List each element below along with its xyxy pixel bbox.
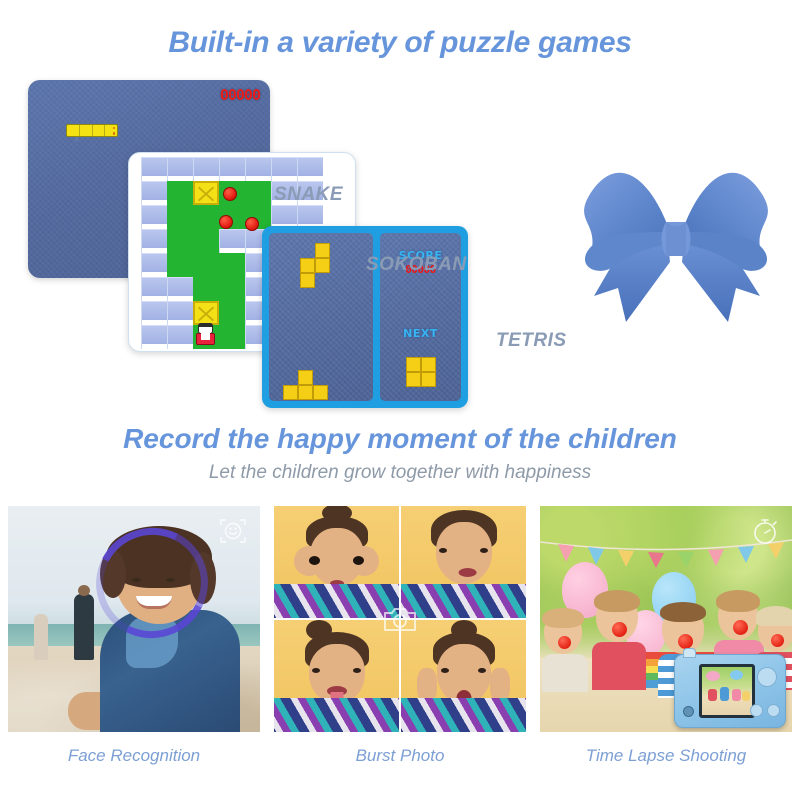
tetris-block — [315, 243, 330, 258]
photo-face-recognition — [8, 506, 260, 732]
sokoban-floor — [245, 181, 271, 205]
girl-eye — [480, 548, 488, 553]
camera-button[interactable] — [750, 704, 763, 717]
sokoban-floor — [193, 253, 219, 277]
tetris-block — [300, 258, 315, 273]
camera-button[interactable] — [767, 704, 780, 717]
girl-shirt — [274, 584, 399, 618]
sokoban-wall — [141, 181, 167, 205]
camera-dpad-button[interactable] — [757, 667, 777, 687]
sokoban-wall — [193, 157, 219, 181]
child-body — [542, 654, 588, 692]
burst-frame — [274, 506, 399, 618]
snake-head — [105, 125, 117, 136]
sokoban-wall — [167, 157, 193, 181]
sokoban-floor — [193, 277, 219, 301]
girl-hand — [490, 668, 510, 702]
snake-eye-icon — [113, 132, 116, 135]
sokoban-floor — [167, 181, 193, 205]
girl-eye — [309, 556, 320, 565]
screen-child — [732, 689, 741, 701]
clown-nose — [678, 634, 693, 649]
sokoban-target — [223, 187, 237, 201]
sokoban-wall — [219, 229, 245, 253]
tetris-next-label: NEXT — [380, 327, 461, 340]
tetris-block — [300, 273, 315, 288]
sokoban-crate — [193, 181, 219, 205]
sokoban-wall — [219, 157, 245, 181]
sokoban-floor — [219, 253, 245, 277]
sokoban-floor — [193, 205, 219, 229]
party-child — [544, 612, 592, 692]
sokoban-wall — [141, 325, 167, 349]
caption-time-lapse: Time Lapse Shooting — [540, 746, 792, 766]
screen-balloon — [706, 671, 720, 681]
sokoban-floor — [193, 229, 219, 253]
child-hair — [660, 602, 706, 622]
tetris-block — [298, 370, 313, 385]
game-label-snake: SNAKE — [274, 184, 343, 206]
feature-photo-row: Face Recognition — [0, 506, 800, 800]
snake-segment — [67, 125, 80, 136]
screen-balloon — [730, 670, 743, 680]
stopwatch-icon — [750, 516, 780, 546]
puzzle-games-showcase: 00000 — [0, 70, 800, 420]
player-shirt — [201, 333, 210, 340]
kids-camera-device — [674, 654, 786, 728]
sokoban-wall — [141, 301, 167, 325]
sokoban-target — [219, 215, 233, 229]
sokoban-wall — [271, 157, 297, 181]
ribbon-bow-icon — [556, 136, 796, 336]
sokoban-floor — [167, 229, 193, 253]
caption-face-recognition: Face Recognition — [8, 746, 260, 766]
girl-shirt — [401, 698, 526, 732]
sokoban-floor — [167, 253, 193, 277]
sokoban-wall — [297, 157, 323, 181]
clown-nose — [612, 622, 627, 637]
sokoban-wall — [167, 277, 193, 301]
photo-time-lapse — [540, 506, 792, 732]
sokoban-player — [196, 323, 215, 345]
tetris-block — [283, 385, 298, 400]
snake-sprite — [66, 124, 118, 137]
girl-shirt — [401, 584, 526, 618]
girl-eye — [478, 668, 486, 673]
sokoban-floor — [167, 205, 193, 229]
girl-eye — [353, 668, 361, 673]
screen-child — [742, 691, 750, 701]
game-label-sokoban: SOKOBAN — [366, 254, 467, 276]
sokoban-floor — [219, 325, 245, 349]
tetris-next-block — [421, 372, 436, 387]
burst-frame — [401, 620, 526, 732]
sokoban-wall — [245, 157, 271, 181]
girl-eye — [353, 556, 364, 565]
child-body — [592, 642, 646, 690]
tetris-block — [313, 385, 328, 400]
tetris-next-block — [406, 372, 421, 387]
sokoban-wall — [141, 229, 167, 253]
clown-nose — [771, 634, 784, 647]
sokoban-target — [245, 217, 259, 231]
snake-segment — [80, 125, 93, 136]
child-hair — [594, 590, 640, 612]
tetris-block — [298, 385, 313, 400]
girl-eye — [439, 548, 447, 553]
feature-card-burst-photo[interactable]: Burst Photo — [274, 506, 526, 800]
child-hair — [542, 608, 584, 628]
sokoban-floor — [219, 277, 245, 301]
player-hair — [198, 323, 213, 327]
girl-eye — [441, 668, 449, 673]
girl-shirt — [274, 698, 399, 732]
sokoban-floor — [219, 301, 245, 325]
sokoban-wall — [141, 277, 167, 301]
girl-hand — [417, 668, 437, 702]
burst-frame — [401, 506, 526, 618]
screen-child — [720, 687, 729, 701]
child-hair — [716, 590, 760, 612]
sokoban-wall — [141, 205, 167, 229]
sokoban-wall — [167, 301, 193, 325]
tetris-playfield — [269, 233, 373, 401]
camera-screen — [699, 664, 755, 718]
camera-shutter-button — [683, 648, 696, 658]
girl-eye — [312, 668, 320, 673]
page-title: Built-in a variety of puzzle games — [0, 26, 800, 60]
smiley-face-detect-icon — [218, 516, 248, 546]
burst-frame — [274, 620, 399, 732]
sokoban-wall — [141, 157, 167, 181]
background-person — [34, 614, 48, 660]
screen-child — [708, 689, 717, 701]
clown-nose — [733, 620, 748, 635]
section-heading-record: Record the happy moment of the children — [0, 423, 800, 455]
photo-burst — [274, 506, 526, 732]
sokoban-crate — [193, 301, 219, 325]
tetris-next-block — [421, 357, 436, 372]
sokoban-wall — [167, 325, 193, 349]
snake-eye-icon — [113, 127, 116, 130]
background-person — [74, 594, 94, 660]
feature-card-face-recognition[interactable]: Face Recognition — [8, 506, 260, 800]
sokoban-wall — [141, 253, 167, 277]
caption-burst-photo: Burst Photo — [274, 746, 526, 766]
tetris-block — [315, 258, 330, 273]
camera-lens-icon — [683, 706, 694, 717]
section-subheading-record: Let the children grow together with happ… — [0, 462, 800, 484]
feature-card-time-lapse[interactable]: Time Lapse Shooting — [540, 506, 792, 800]
girl-mouth — [458, 568, 476, 577]
child-hat — [756, 606, 792, 626]
clown-nose — [558, 636, 571, 649]
snake-segment — [93, 125, 106, 136]
camera-icon — [383, 604, 417, 634]
party-child — [596, 594, 652, 690]
tetris-next-block — [406, 357, 421, 372]
snake-score: 00000 — [220, 86, 260, 104]
